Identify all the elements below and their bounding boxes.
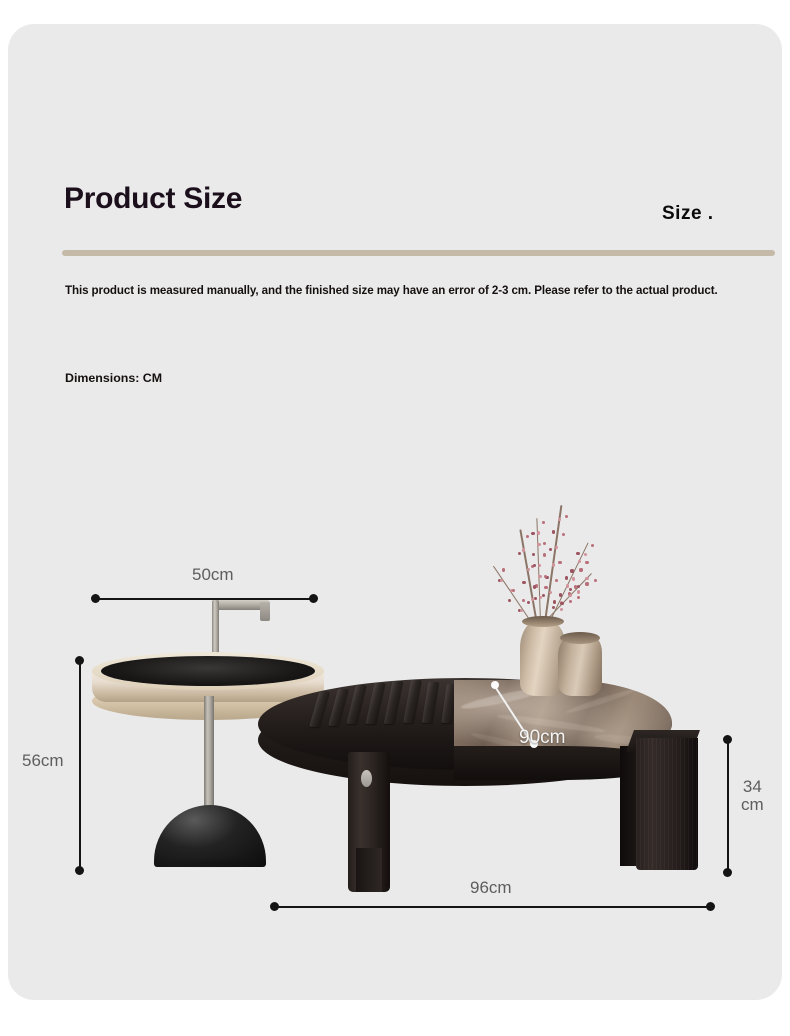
branch-berry <box>544 586 547 589</box>
branch-berry <box>527 568 530 571</box>
dimension-dot-height-top <box>723 735 732 744</box>
branch-berry <box>533 564 536 567</box>
branch-berry <box>518 552 521 555</box>
branch-berry <box>565 515 568 518</box>
branch-berry <box>569 594 572 597</box>
branch-berry <box>558 561 561 564</box>
branch-berry <box>569 600 572 603</box>
branch-berry <box>577 585 580 588</box>
dimension-line-coffee-table-height <box>727 739 729 872</box>
branch-berry <box>552 530 555 533</box>
branch-berry <box>579 568 582 571</box>
branch-berry <box>549 548 552 551</box>
branch-berry <box>585 582 588 585</box>
dimension-dot-depth-top <box>491 681 499 689</box>
branch-berry <box>560 602 563 605</box>
branch-berry <box>532 553 535 556</box>
branch-berry <box>558 518 561 521</box>
coffee-table-leg-hardware <box>361 770 372 787</box>
dimension-label-coffee-table-height: 34 cm <box>741 778 764 814</box>
side-table-shadow <box>152 858 270 868</box>
vase-left-opening <box>522 616 564 627</box>
branch-berry <box>527 601 530 604</box>
branch-berry <box>591 544 594 547</box>
branch-berry <box>522 581 525 584</box>
coffee-table-illustration <box>258 660 698 900</box>
branch-berry <box>500 579 503 582</box>
dimension-dot-right <box>309 594 318 603</box>
branch-berry <box>555 579 558 582</box>
branch-berry <box>522 599 525 602</box>
branch-berry <box>531 532 534 535</box>
branch-berry <box>594 579 597 582</box>
branch-berry <box>502 568 505 571</box>
dimension-line-coffee-table-width <box>275 906 711 908</box>
branch-berry <box>569 588 572 591</box>
branch-berry <box>537 531 540 534</box>
branch-berry <box>559 593 562 596</box>
branch-berry <box>543 553 546 556</box>
branch-berry <box>539 596 542 599</box>
branch-berry <box>585 561 588 564</box>
vase-pair-decor <box>512 608 632 696</box>
branch-berry <box>553 600 556 603</box>
branch-berry <box>533 585 536 588</box>
dimension-dot-width-left <box>270 902 279 911</box>
product-illustration: 50cm 56cm 90cm 34 cm 96cm <box>0 0 790 1036</box>
vase-right-opening <box>560 632 600 644</box>
branch-berry <box>538 575 541 578</box>
dimension-dot-bottom <box>75 866 84 875</box>
branch-berry <box>549 591 552 594</box>
branch-berry <box>552 563 555 566</box>
branch-berry <box>577 596 580 599</box>
branch-berry <box>534 597 537 600</box>
dimension-label-side-table-height: 56cm <box>22 752 64 770</box>
dimension-line-side-table-height <box>79 660 81 870</box>
dimension-dot-width-right <box>706 902 715 911</box>
side-table-handle-cap <box>260 602 270 621</box>
branch-berry <box>543 542 546 545</box>
dimension-dot-height-bottom <box>723 868 732 877</box>
branch-berry <box>538 564 541 567</box>
dimension-dot-top <box>75 656 84 665</box>
branch-berry <box>526 535 529 538</box>
branch-berry <box>512 589 515 592</box>
dimension-label-coffee-table-depth: 90cm <box>519 727 565 749</box>
branch-berry <box>572 577 575 580</box>
branch-berry <box>576 552 579 555</box>
branch-berry <box>542 521 545 524</box>
product-size-page: Product Size Size . This product is meas… <box>0 0 790 1036</box>
branch-berry <box>544 575 547 578</box>
branch-berry <box>566 584 569 587</box>
branch-berry <box>584 553 587 556</box>
dimension-label-coffee-table-width: 96cm <box>470 879 512 897</box>
dimension-label-side-table-width: 50cm <box>192 566 234 584</box>
branch-berry <box>562 533 565 536</box>
dimension-line-side-table-width <box>95 598 313 600</box>
branch-berry <box>577 590 580 593</box>
coffee-table-right-leg <box>636 738 698 870</box>
branch-berry <box>542 594 545 597</box>
branch-berry <box>565 576 568 579</box>
branch-berry <box>508 599 511 602</box>
branch-berry <box>570 569 573 572</box>
dimension-dot-left <box>91 594 100 603</box>
branch-berry <box>522 548 525 551</box>
branch-berry <box>585 577 588 580</box>
branch-berry <box>537 543 540 546</box>
branch-berry <box>555 546 558 549</box>
